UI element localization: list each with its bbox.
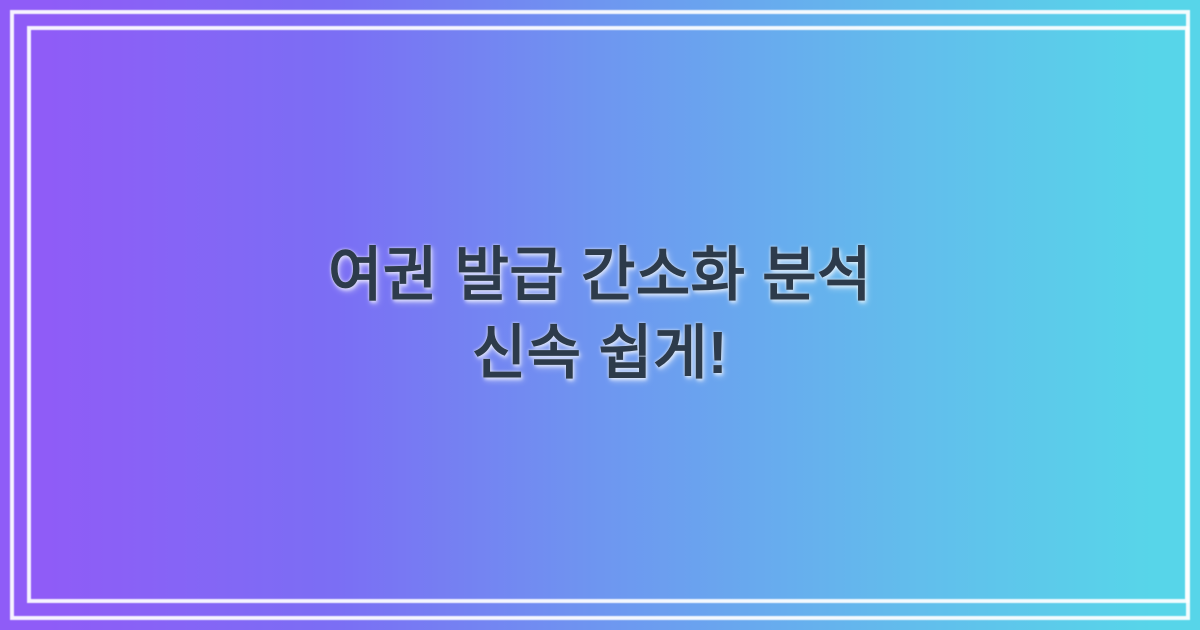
headline-line-1: 여권 발급 간소화 분석 (328, 237, 872, 315)
headline-line-2: 신속 쉽게! (472, 315, 728, 393)
promo-banner: 여권 발급 간소화 분석 신속 쉽게! (0, 0, 1200, 630)
headline-block: 여권 발급 간소화 분석 신속 쉽게! (0, 0, 1200, 630)
